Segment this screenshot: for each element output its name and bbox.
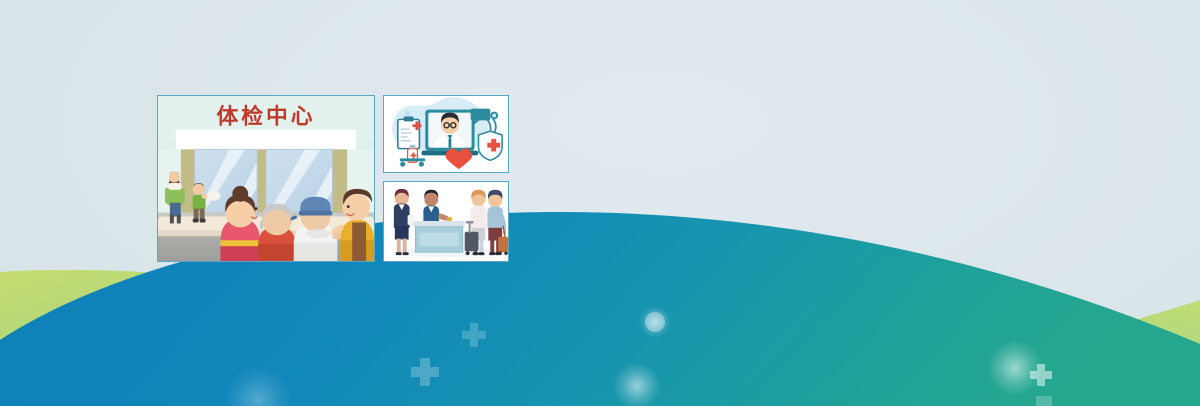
reception-desk — [414, 221, 465, 252]
gallery-card-reception-desk[interactable] — [383, 181, 509, 262]
card-caption: 体检中心 — [216, 104, 315, 130]
telemedicine-illustration — [384, 96, 508, 172]
sign-board — [176, 130, 356, 150]
health-exam-center-illustration: 体检中心 — [158, 96, 374, 261]
shield-icon — [478, 131, 502, 160]
glow-spot — [987, 340, 1043, 396]
person-foreground-elderly-red — [258, 204, 296, 261]
laptop-icon — [421, 110, 478, 156]
image-gallery: 体检中心 — [157, 95, 509, 262]
banner-canvas: 体检中心 — [0, 0, 1200, 406]
gallery-card-health-exam-center[interactable]: 体检中心 — [157, 95, 375, 262]
reception-desk-illustration — [384, 182, 508, 261]
gallery-card-telemedicine[interactable] — [383, 95, 509, 173]
clipboard-icon — [398, 116, 422, 148]
glow-spot — [645, 312, 665, 332]
decoration-block — [1036, 396, 1052, 406]
